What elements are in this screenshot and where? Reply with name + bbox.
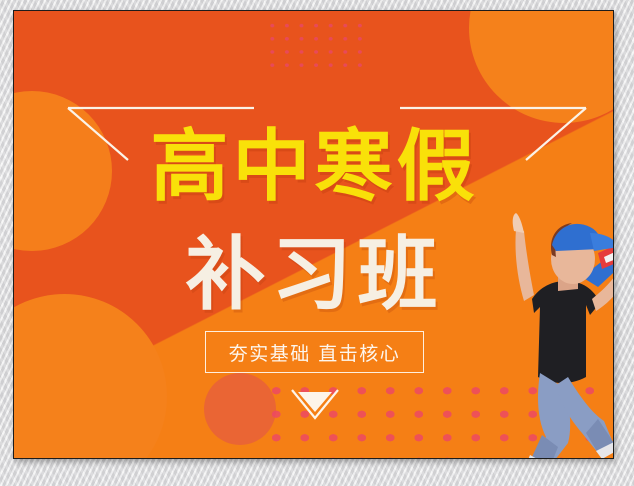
- jumping-student-illustration: [486, 207, 614, 459]
- poster-banner: 高中寒假 补习班 夯实基础 直击核心: [13, 10, 614, 459]
- poster-headline-line1: 高中寒假: [14, 128, 614, 206]
- subtitle-frame: 夯实基础 直击核心: [205, 331, 424, 373]
- dot-grid-top-icon: [265, 19, 369, 75]
- chevron-down-icon: [289, 387, 341, 421]
- subtitle-text: 夯实基础 直击核心: [229, 339, 401, 366]
